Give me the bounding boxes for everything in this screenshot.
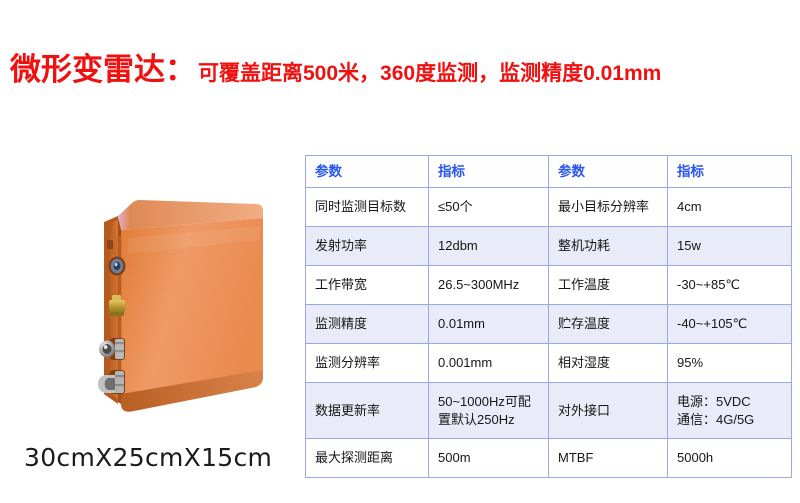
radar-device-image (88, 178, 288, 430)
device-tab-upper (107, 240, 113, 249)
spec-param: 监测精度 (306, 305, 429, 344)
spec-value: 4cm (668, 188, 792, 227)
spec-param: MTBF (549, 439, 668, 478)
device-dimensions-caption: 30cmX25cmX15cm (24, 443, 272, 472)
table-row: 监测精度 0.01mm 贮存温度 -40~+105℃ (306, 305, 792, 344)
device-rf-connector-icon (109, 257, 126, 276)
spec-param: 整机功耗 (549, 227, 668, 266)
device-metal-connector-1-icon (99, 338, 125, 360)
table-row: 工作带宽 26.5~300MHz 工作温度 -30~+85℃ (306, 266, 792, 305)
spec-value: 95% (668, 344, 792, 383)
spec-value: ≤50个 (429, 188, 549, 227)
spec-param: 贮存温度 (549, 305, 668, 344)
spec-param: 最小目标分辨率 (549, 188, 668, 227)
table-row: 监测分辨率 0.001mm 相对湿度 95% (306, 344, 792, 383)
spec-value: -40~+105℃ (668, 305, 792, 344)
column-header-param-1: 参数 (306, 156, 429, 188)
page-title-subtitle: 可覆盖距离500米，360度监测，监测精度0.01mm (198, 62, 661, 85)
spec-value: 电源：5VDC 通信：4G/5G (668, 383, 792, 439)
table-header-row: 参数 指标 参数 指标 (306, 156, 792, 188)
spec-param: 相对湿度 (549, 344, 668, 383)
spec-value: 26.5~300MHz (429, 266, 549, 305)
spec-param: 发射功率 (306, 227, 429, 266)
column-header-param-2: 参数 (549, 156, 668, 188)
device-metal-connector-2-icon (98, 370, 125, 394)
spec-param: 同时监测目标数 (306, 188, 429, 227)
spec-param: 监测分辨率 (306, 344, 429, 383)
spec-param: 对外接口 (549, 383, 668, 439)
spec-value: 0.01mm (429, 305, 549, 344)
spec-param: 工作温度 (549, 266, 668, 305)
spec-value: 15w (668, 227, 792, 266)
specifications-table: 参数 指标 参数 指标 同时监测目标数 ≤50个 最小目标分辨率 4cm 发射功… (305, 155, 792, 478)
table-row: 同时监测目标数 ≤50个 最小目标分辨率 4cm (306, 188, 792, 227)
radar-device-illustration (88, 178, 288, 430)
spec-param: 数据更新率 (306, 383, 429, 439)
spec-value: 5000h (668, 439, 792, 478)
page-title: 微形变雷达：可覆盖距离500米，360度监测，监测精度0.01mm (10, 44, 790, 88)
spec-value: 500m (429, 439, 549, 478)
spec-value: 0.001mm (429, 344, 549, 383)
spec-value: 50~1000Hz可配置默认250Hz (429, 383, 549, 439)
page-title-main: 微形变雷达： (10, 52, 196, 87)
table-row: 数据更新率 50~1000Hz可配置默认250Hz 对外接口 电源：5VDC 通… (306, 383, 792, 439)
spec-param: 工作带宽 (306, 266, 429, 305)
column-header-value-2: 指标 (668, 156, 792, 188)
table-row: 发射功率 12dbm 整机功耗 15w (306, 227, 792, 266)
spec-value: 12dbm (429, 227, 549, 266)
table-row: 最大探测距离 500m MTBF 5000h (306, 439, 792, 478)
column-header-value-1: 指标 (429, 156, 549, 188)
spec-param: 最大探测距离 (306, 439, 429, 478)
spec-value: -30~+85℃ (668, 266, 792, 305)
